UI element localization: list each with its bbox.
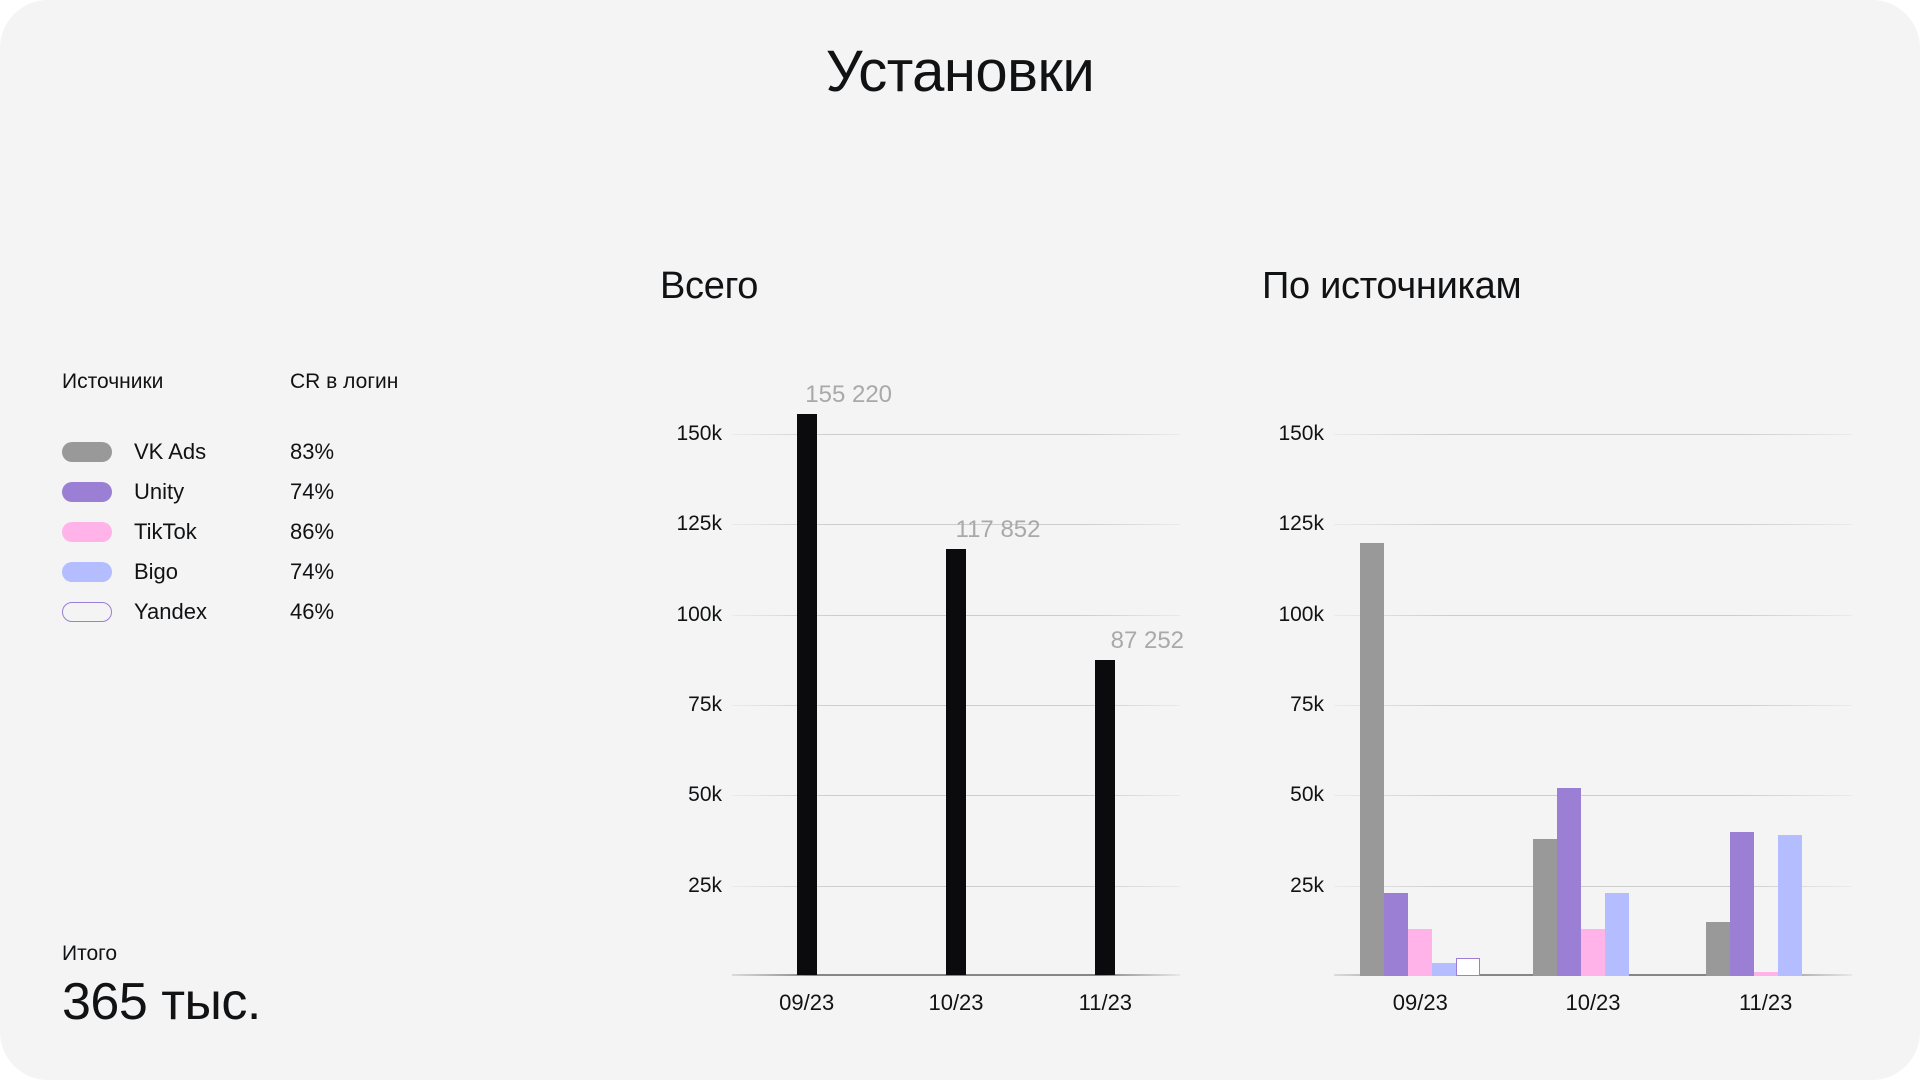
bar[interactable] (797, 414, 817, 975)
chart-total-panel: Всего 150k125k100k75k50k25k09/2310/2311/… (660, 265, 1180, 308)
y-axis-tick-label: 150k (660, 422, 722, 446)
gridline (1334, 886, 1852, 887)
y-axis-tick-label: 125k (660, 512, 722, 536)
legend-source-name: VK Ads (134, 439, 206, 465)
bar[interactable] (1706, 922, 1730, 976)
legend-header-cr: CR в логин (290, 370, 398, 394)
x-axis-tick-label: 10/23 (928, 990, 983, 1016)
bar[interactable] (1456, 958, 1480, 976)
legend-source-name: Unity (134, 479, 184, 505)
legend-row[interactable]: Bigo74% (62, 552, 482, 592)
y-axis-tick-label: 25k (660, 874, 722, 898)
chart-sources-title: По источникам (1262, 265, 1852, 308)
y-axis-tick-label: 50k (1262, 783, 1324, 807)
y-axis-tick-label: 100k (660, 603, 722, 627)
totals-value: 365 тыс. (62, 972, 261, 1032)
chart-total-title: Всего (660, 265, 1180, 308)
x-axis-tick-label: 11/23 (1079, 990, 1132, 1016)
bar[interactable] (1432, 963, 1456, 976)
legend-row[interactable]: TikTok86% (62, 512, 482, 552)
legend-color-swatch (62, 522, 112, 542)
gridline (1334, 705, 1852, 706)
chart-total-plot: 150k125k100k75k50k25k09/2310/2311/23155 … (660, 378, 1180, 976)
legend-color-swatch (62, 442, 112, 462)
legend-source-name: Yandex (134, 599, 207, 625)
y-axis-tick-label: 50k (660, 783, 722, 807)
legend-color-swatch (62, 482, 112, 502)
y-axis-tick-label: 100k (1262, 603, 1324, 627)
gridline (1334, 795, 1852, 796)
bar[interactable] (1778, 835, 1802, 976)
bar[interactable] (1360, 543, 1384, 976)
page-title: Установки (0, 38, 1920, 105)
legend-row[interactable]: Unity74% (62, 472, 482, 512)
gridline (1334, 615, 1852, 616)
legend-source-name: Bigo (134, 559, 178, 585)
y-axis-tick-label: 75k (1262, 693, 1324, 717)
y-axis-tick-label: 75k (660, 693, 722, 717)
x-axis-tick-label: 10/23 (1565, 990, 1620, 1016)
bar-value-label: 117 852 (956, 516, 1041, 544)
legend-color-swatch (62, 602, 112, 622)
bar[interactable] (1754, 972, 1778, 976)
bar[interactable] (1384, 893, 1408, 976)
totals-block: Итого 365 тыс. (62, 942, 261, 1032)
legend-cr-value: 83% (290, 439, 334, 465)
legend-color-swatch (62, 562, 112, 582)
sources-legend-table: Источники CR в логин VK Ads83%Unity74%Ti… (62, 370, 482, 632)
legend-cr-value: 46% (290, 599, 334, 625)
legend-rows: VK Ads83%Unity74%TikTok86%Bigo74%Yandex4… (62, 432, 482, 632)
bar[interactable] (1095, 660, 1115, 975)
legend-header-sources: Источники (62, 370, 163, 394)
bar[interactable] (1533, 839, 1557, 976)
legend-source-name: TikTok (134, 519, 197, 545)
y-axis-tick-label: 150k (1262, 422, 1324, 446)
bar[interactable] (1557, 788, 1581, 976)
y-axis-tick-label: 125k (1262, 512, 1324, 536)
bar[interactable] (1605, 893, 1629, 976)
bar-value-label: 155 220 (805, 381, 892, 409)
bar[interactable] (946, 549, 966, 975)
legend-row[interactable]: VK Ads83% (62, 432, 482, 472)
legend-cr-value: 74% (290, 479, 334, 505)
totals-label: Итого (62, 942, 261, 966)
y-axis-tick-label: 25k (1262, 874, 1324, 898)
x-axis-tick-label: 11/23 (1739, 990, 1792, 1016)
gridline (1334, 434, 1852, 435)
legend-row[interactable]: Yandex46% (62, 592, 482, 632)
x-axis-tick-label: 09/23 (779, 990, 834, 1016)
bar[interactable] (1581, 929, 1605, 976)
legend-cr-value: 86% (290, 519, 334, 545)
bar-value-label: 87 252 (1111, 627, 1184, 655)
gridline (1334, 524, 1852, 525)
bar[interactable] (1408, 929, 1432, 976)
legend-header-row: Источники CR в логин (62, 370, 482, 404)
dashboard-card: Установки Источники CR в логин VK Ads83%… (0, 0, 1920, 1080)
chart-sources-plot: 150k125k100k75k50k25k09/2310/2311/23 (1262, 378, 1852, 976)
legend-cr-value: 74% (290, 559, 334, 585)
x-axis-tick-label: 09/23 (1393, 990, 1448, 1016)
bar[interactable] (1730, 832, 1754, 976)
chart-sources-panel: По источникам 150k125k100k75k50k25k09/23… (1262, 265, 1852, 308)
